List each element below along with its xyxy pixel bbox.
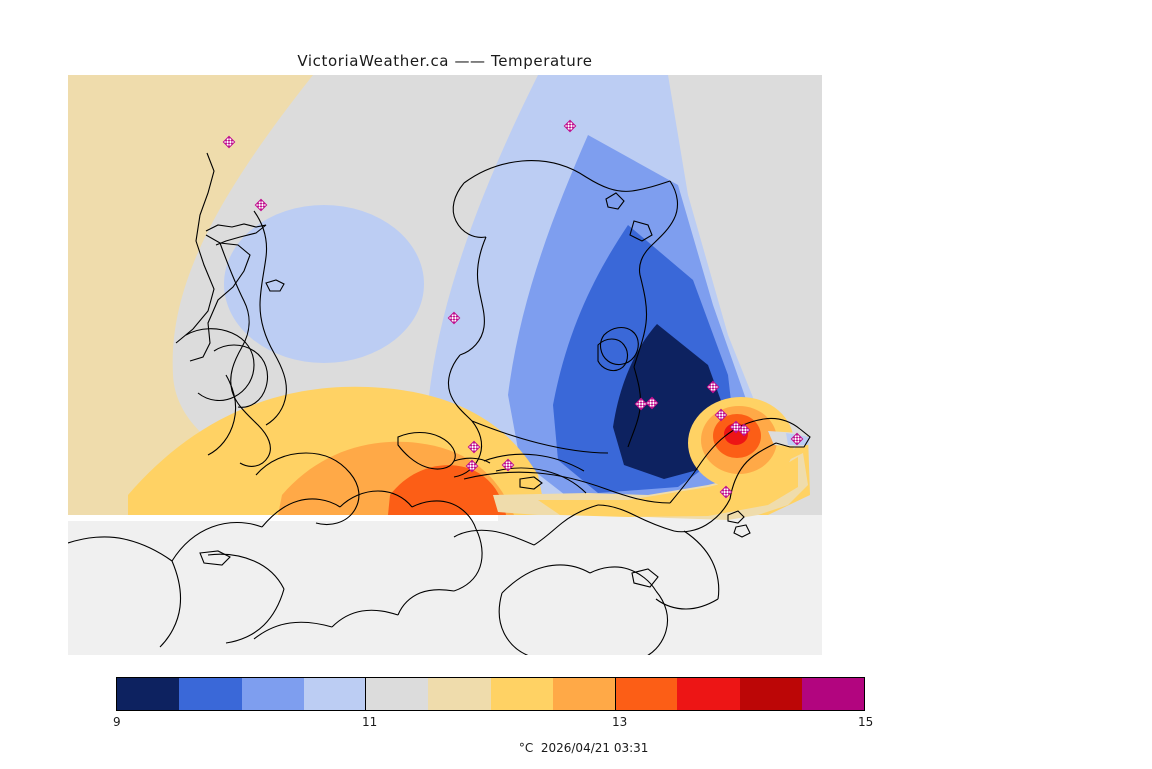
colorbar-segment-2 xyxy=(242,678,304,710)
colorbar-segment-7 xyxy=(553,678,615,710)
south-background xyxy=(68,521,822,655)
colorbar-units-timestamp: °C 2026/04/21 03:31 xyxy=(0,727,1152,769)
temperature-contour-map[interactable] xyxy=(68,75,822,655)
colorbar[interactable] xyxy=(116,677,865,711)
colorbar-units-text: °C 2026/04/21 03:31 xyxy=(519,741,649,755)
colorbar-segment-6 xyxy=(491,678,553,710)
colorbar-segment-3 xyxy=(304,678,366,710)
south-shaded-layer xyxy=(68,515,822,655)
colorbar-segment-5 xyxy=(428,678,490,710)
colorbar-segment-11 xyxy=(802,678,864,710)
page-title: VictoriaWeather.ca —— Temperature xyxy=(0,52,890,70)
colorbar-segment-9 xyxy=(677,678,739,710)
colorbar-segment-10 xyxy=(740,678,802,710)
map-panel[interactable] xyxy=(68,75,822,655)
colorbar-segment-0 xyxy=(117,678,179,710)
colorbar-strip[interactable] xyxy=(116,677,865,711)
colorbar-divider-13 xyxy=(615,677,616,711)
nodata-strip xyxy=(68,515,498,521)
colorbar-divider-11 xyxy=(365,677,366,711)
colorbar-segment-1 xyxy=(179,678,241,710)
colorbar-segment-4 xyxy=(366,678,428,710)
band-10_5-11_0-inland xyxy=(224,205,424,363)
colorbar-segment-8 xyxy=(615,678,677,710)
weather-map-page: VictoriaWeather.ca —— Temperature xyxy=(0,0,1152,768)
